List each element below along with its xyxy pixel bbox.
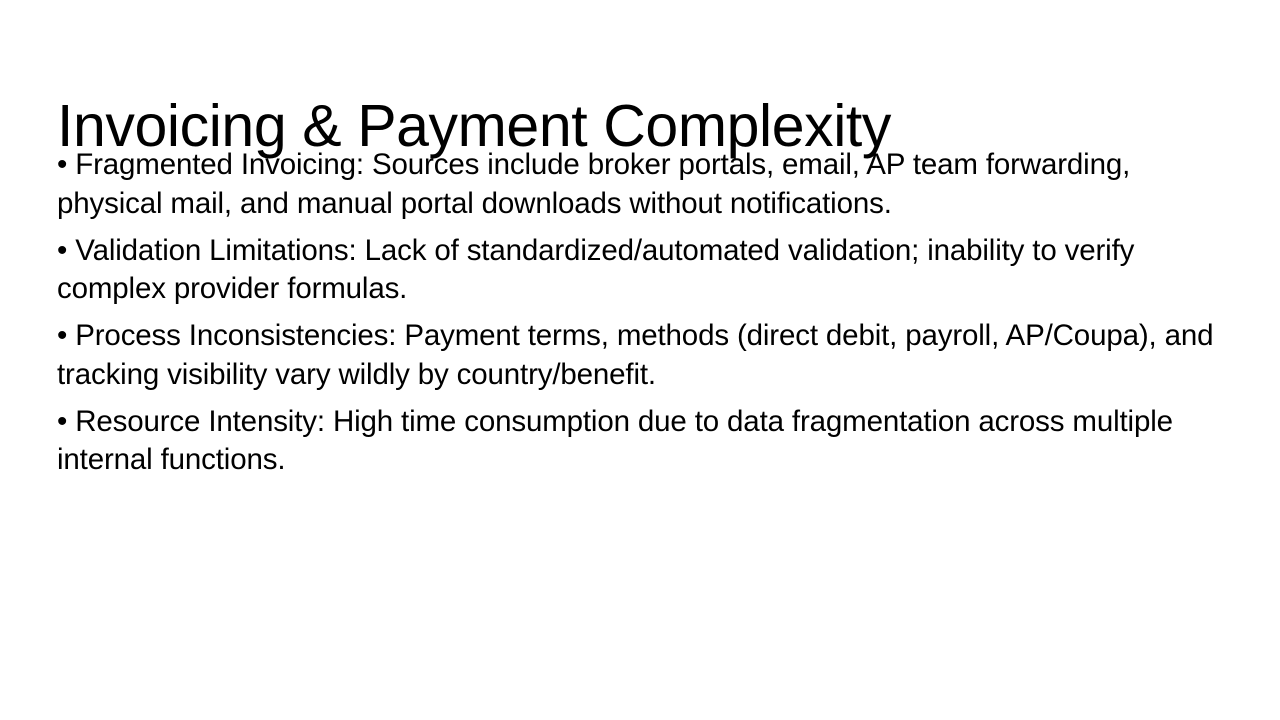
slide-canvas: Invoicing & Payment Complexity • Fragmen… [0,0,1280,720]
list-item-text: Validation Limitations: Lack of standard… [57,234,1134,306]
bullet-list: • Fragmented Invoicing: Sources include … [57,146,1219,480]
list-item-text: Process Inconsistencies: Payment terms, … [57,319,1213,391]
bullet-marker-icon: • [57,148,67,181]
list-item: • Process Inconsistencies: Payment terms… [57,317,1219,394]
bullet-marker-icon: • [57,319,67,352]
bullet-marker-icon: • [57,405,67,438]
bullet-marker-icon: • [57,234,67,267]
list-item: • Validation Limitations: Lack of standa… [57,232,1219,309]
list-item: • Fragmented Invoicing: Sources include … [57,146,1219,223]
list-item-text: Fragmented Invoicing: Sources include br… [57,148,1130,220]
list-item-text: Resource Intensity: High time consumptio… [57,405,1173,477]
list-item: • Resource Intensity: High time consumpt… [57,403,1219,480]
